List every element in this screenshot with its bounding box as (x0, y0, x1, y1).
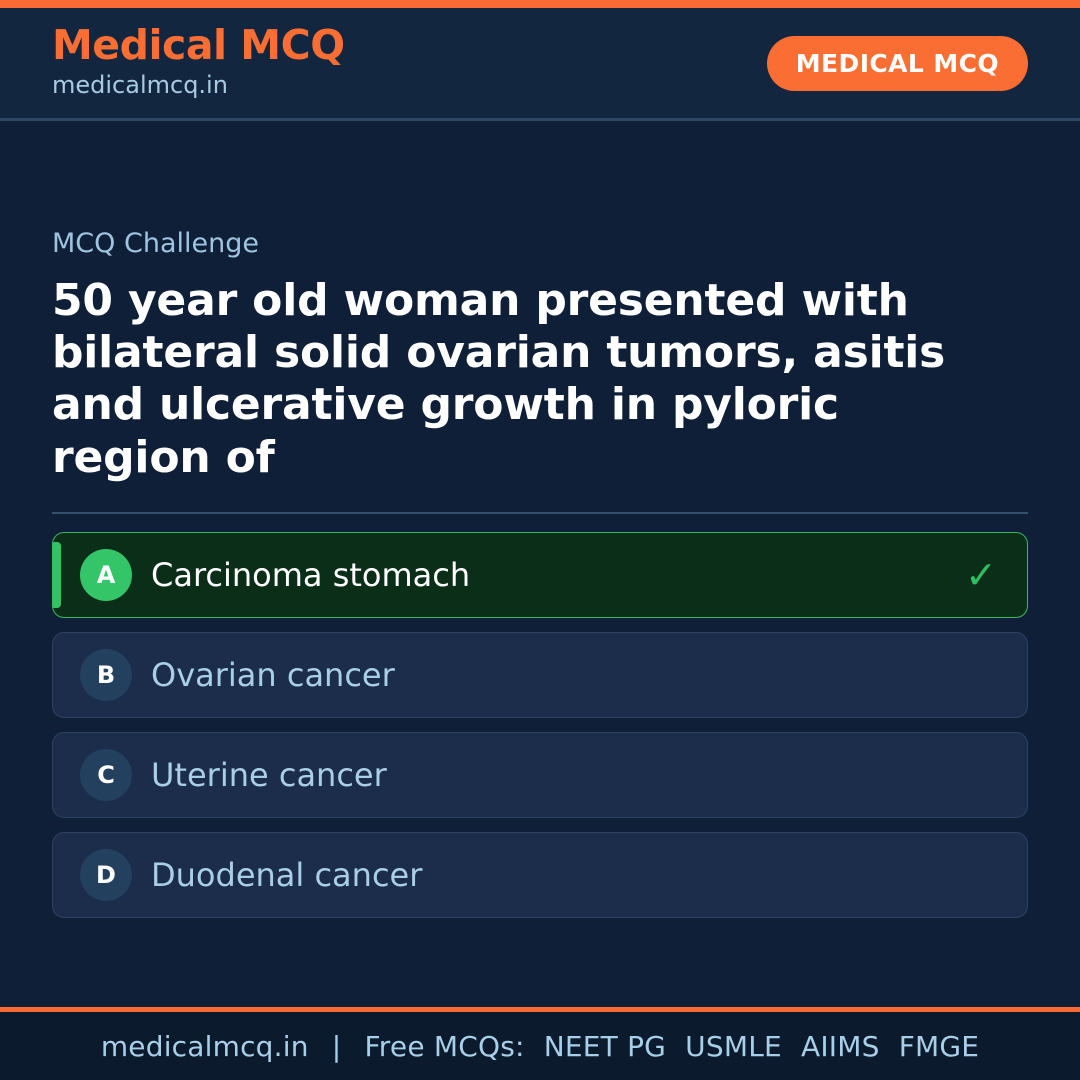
brand-url: medicalmcq.in (52, 69, 345, 101)
options-list: ACarcinoma stomach✓BOvarian cancerCUteri… (52, 532, 1028, 918)
option-label-c: Uterine cancer (151, 758, 961, 793)
option-a[interactable]: ACarcinoma stomach✓ (52, 532, 1028, 618)
brand-title: Medical MCQ (52, 24, 345, 67)
option-c[interactable]: CUterine cancer (52, 732, 1028, 818)
footer-text: medicalmcq.in | Free MCQs: NEET PG USMLE… (101, 1030, 979, 1063)
footer-exam-fmge[interactable]: FMGE (889, 1030, 979, 1063)
footer-prefix: Free MCQs: (365, 1030, 525, 1063)
main-content: MCQ Challenge 50 year old woman presente… (0, 121, 1080, 1007)
option-label-b: Ovarian cancer (151, 658, 961, 693)
correct-accent-bar (53, 542, 61, 608)
question-text: 50 year old woman presented with bilater… (52, 275, 952, 484)
top-accent-bar (0, 0, 1080, 8)
option-badge-d: D (80, 849, 132, 901)
option-b[interactable]: BOvarian cancer (52, 632, 1028, 718)
page-header: Medical MCQ medicalmcq.in MEDICAL MCQ (0, 8, 1080, 121)
option-badge-c: C (80, 749, 132, 801)
header-badge[interactable]: MEDICAL MCQ (767, 36, 1028, 91)
footer-site[interactable]: medicalmcq.in (101, 1030, 309, 1063)
option-badge-b: B (80, 649, 132, 701)
question-divider (52, 512, 1028, 514)
option-label-d: Duodenal cancer (151, 858, 961, 893)
mcq-card: Medical MCQ medicalmcq.in MEDICAL MCQ MC… (0, 0, 1080, 1080)
eyebrow-label: MCQ Challenge (52, 229, 1028, 259)
page-footer: medicalmcq.in | Free MCQs: NEET PG USMLE… (0, 1007, 1080, 1080)
brand: Medical MCQ medicalmcq.in (52, 24, 345, 101)
option-badge-a: A (80, 549, 132, 601)
option-d[interactable]: DDuodenal cancer (52, 832, 1028, 918)
footer-exam-neetpg[interactable]: NEET PG (534, 1030, 666, 1063)
option-label-a: Carcinoma stomach (151, 558, 961, 593)
footer-exam-usmle[interactable]: USMLE (675, 1030, 782, 1063)
check-icon: ✓ (961, 556, 1001, 594)
footer-exam-aiims[interactable]: AIIMS (791, 1030, 880, 1063)
footer-separator: | (318, 1030, 356, 1063)
